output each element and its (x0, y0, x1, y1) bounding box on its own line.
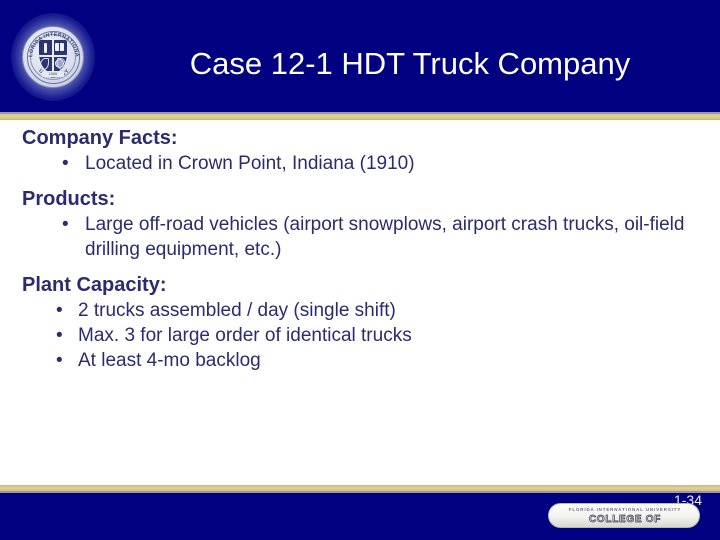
section-heading-products: Products: (22, 187, 720, 212)
list-item: • Large off-road vehicles (airport snowp… (0, 212, 720, 262)
badge-college-line: COLLEGE OF ENGINEERING (549, 513, 700, 528)
bullet-glyph-icon: • (62, 212, 69, 237)
shield-divider-horizontal (39, 55, 67, 57)
seal-shield-icon (39, 40, 67, 73)
list-item: • 2 trucks assembled / day (single shift… (0, 298, 720, 323)
bullet-list-company-facts: • Located in Crown Point, Indiana (1910) (0, 151, 720, 176)
university-seal-icon: FLORIDA INTERNATIONAL UNIVERSITY 1965 (11, 13, 95, 101)
list-item-text: Max. 3 for large order of identical truc… (78, 323, 720, 348)
bullet-glyph-icon: • (56, 298, 63, 323)
bullet-glyph-icon: • (56, 348, 63, 373)
section-heading-company-facts: Company Facts: (22, 126, 720, 151)
book-icon (55, 43, 64, 51)
slide-body: Company Facts: • Located in Crown Point,… (0, 126, 720, 476)
shield-divider-vertical (52, 40, 54, 73)
presentation-slide: FLORIDA INTERNATIONAL UNIVERSITY 1965 Ca… (0, 0, 720, 540)
list-item: • Max. 3 for large order of identical tr… (0, 323, 720, 348)
laurel-left-icon (40, 58, 49, 70)
list-item: • At least 4-mo backlog (0, 348, 720, 373)
page-title: Case 12-1 HDT Truck Company (120, 46, 700, 82)
bullet-list-products: • Large off-road vehicles (airport snowp… (0, 212, 720, 262)
header-gold-rule (0, 114, 720, 120)
seal-disc: FLORIDA INTERNATIONAL UNIVERSITY 1965 (22, 26, 84, 88)
college-of-engineering-logo: FLORIDA INTERNATIONAL UNIVERSITY COLLEGE… (548, 503, 700, 528)
list-item-text: At least 4-mo backlog (78, 348, 720, 373)
section-heading-plant-capacity: Plant Capacity: (22, 273, 720, 298)
seal-banner: 1965 (42, 71, 64, 77)
list-item-text: 2 trucks assembled / day (single shift) (78, 298, 720, 323)
bullet-glyph-icon: • (62, 151, 69, 176)
laurel-right-icon (57, 58, 66, 70)
bullet-list-plant-capacity: • 2 trucks assembled / day (single shift… (0, 298, 720, 373)
list-item: • Located in Crown Point, Indiana (1910) (0, 151, 720, 176)
list-item-text: Large off-road vehicles (airport snowplo… (85, 212, 720, 262)
bullet-glyph-icon: • (56, 323, 63, 348)
list-item-text: Located in Crown Point, Indiana (1910) (85, 151, 720, 176)
torch-icon (44, 43, 47, 53)
